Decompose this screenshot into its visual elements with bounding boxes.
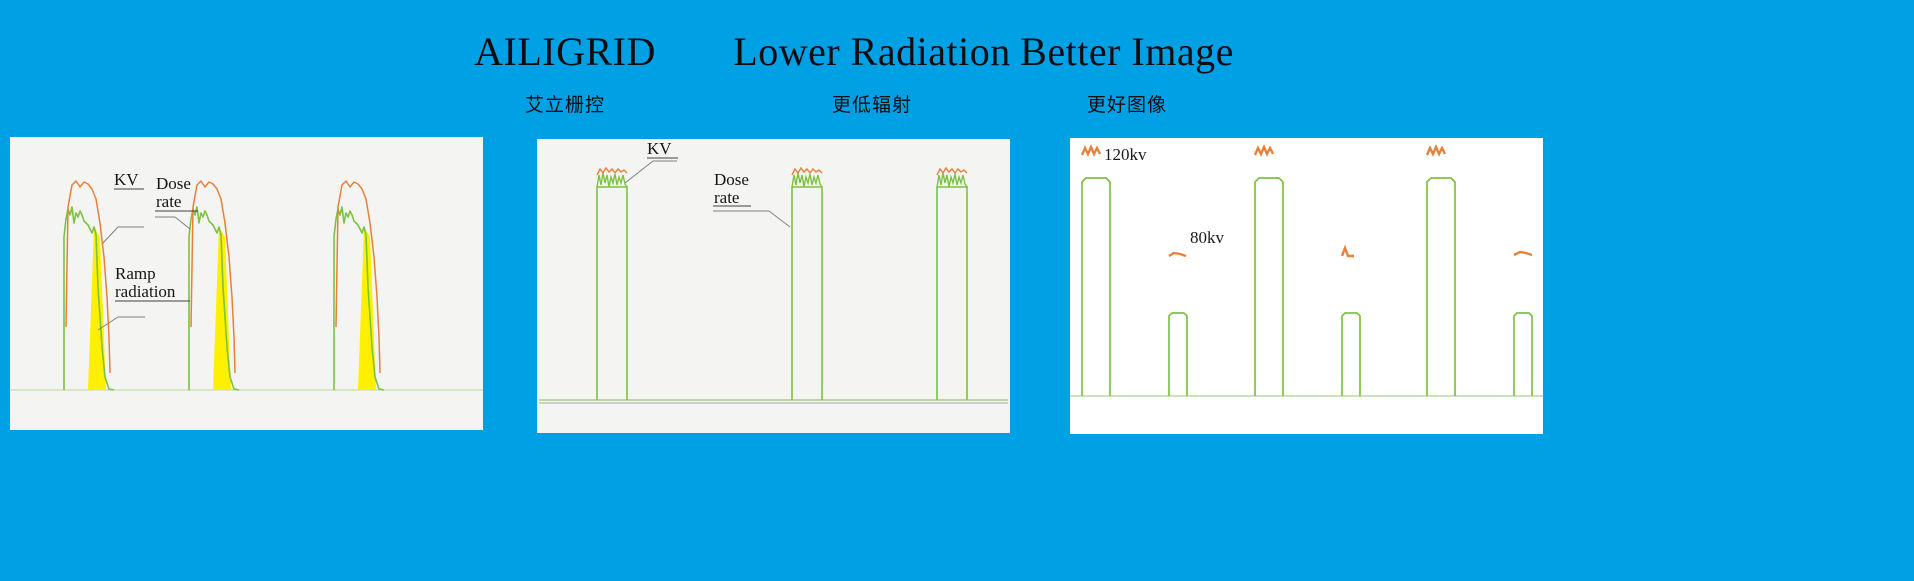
svg-text:KV: KV	[647, 139, 672, 158]
header-banner: AILIGRID 艾立栅控 Lower Radiation 更低辐射 Bette…	[0, 0, 1914, 135]
svg-text:Dose: Dose	[156, 174, 191, 193]
panel-normal-x-ray-pulse: KV Dose rate Ramp radiation Normal x ray…	[10, 137, 483, 430]
marker-80kv-1	[1169, 253, 1186, 256]
annotation-kv-panel1: KV	[625, 139, 678, 183]
svg-text:Dose: Dose	[714, 170, 749, 189]
marker-80kv-2	[1342, 248, 1354, 256]
annotation-ramp-radiation-panel0: Ramp radiation	[98, 264, 190, 330]
annotation-dose-rate-panel1: Dose rate	[713, 170, 790, 227]
header-column-better-image: Better Image 更好图像	[937, 32, 1317, 117]
panel-ailigrid-x-ray-pulse: KV Dose rate Ailigrid x ray pulse	[537, 139, 1010, 433]
svg-text:KV: KV	[114, 170, 139, 189]
chart-ailigrid-interlace-dual-energy	[1070, 138, 1543, 434]
chart-ailigrid-x-ray-pulse: KV Dose rate	[537, 139, 1010, 433]
chart-normal-x-ray-pulse: KV Dose rate Ramp radiation	[10, 137, 483, 430]
header-title-en-2: Better Image	[937, 32, 1317, 72]
header-title-cn-2: 更好图像	[937, 90, 1317, 117]
marker-120kv-3	[1427, 147, 1445, 155]
panel-ailigrid-interlace-dual-energy: 120kv 80kv Ailigrid interlace dual energ…	[1070, 138, 1543, 434]
svg-text:radiation: radiation	[115, 282, 176, 301]
marker-120kv-2	[1255, 147, 1273, 155]
annotation-kv-panel0: KV	[102, 170, 144, 244]
marker-120kv-1	[1082, 147, 1100, 155]
svg-text:rate: rate	[156, 192, 181, 211]
legend-label-120kv: 120kv	[1104, 145, 1147, 165]
svg-text:rate: rate	[714, 188, 739, 207]
legend-label-80kv: 80kv	[1190, 228, 1224, 248]
marker-80kv-3	[1514, 252, 1532, 255]
svg-text:Ramp: Ramp	[115, 264, 156, 283]
